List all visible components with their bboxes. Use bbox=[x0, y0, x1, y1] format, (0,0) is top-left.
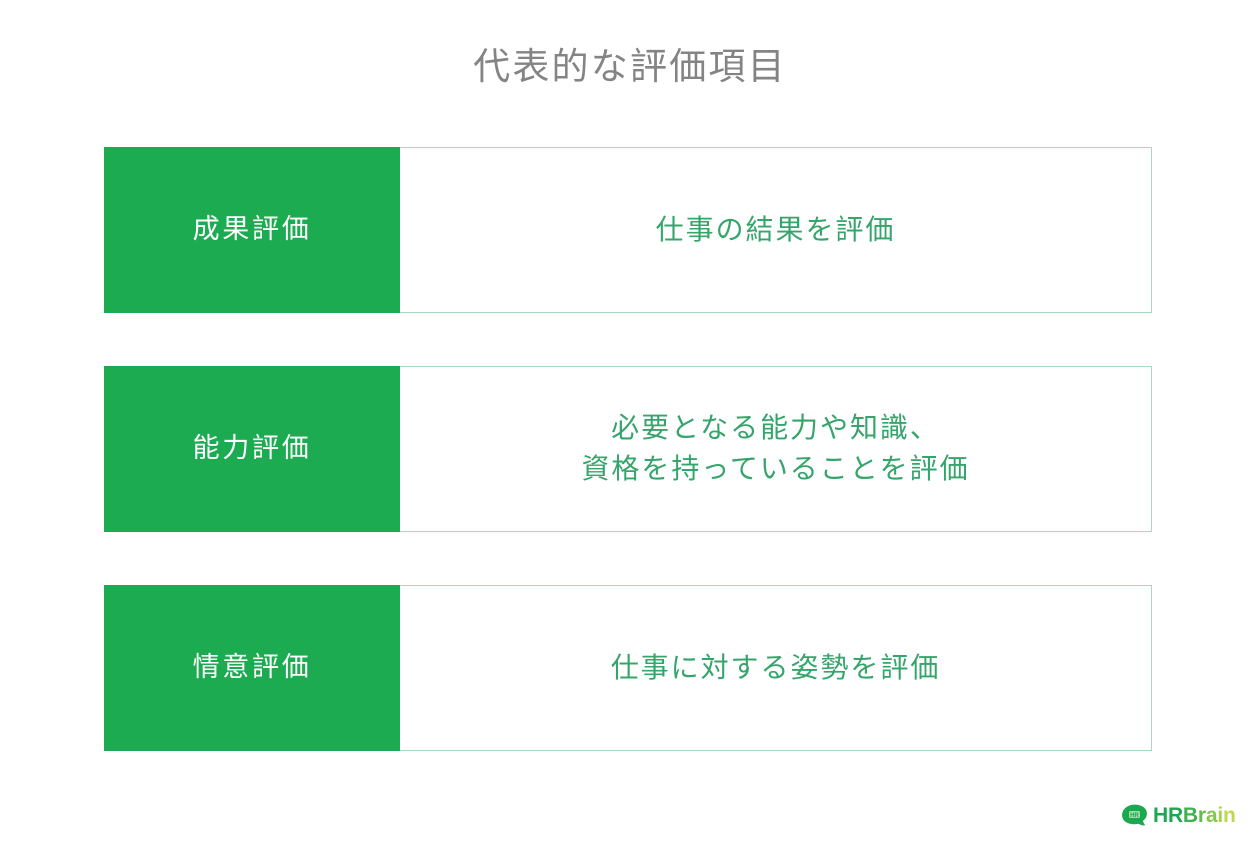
row-label-cell-2: 能力評価 bbox=[104, 366, 400, 532]
row-description-cell-1: 仕事の結果を評価 bbox=[400, 148, 1151, 312]
hrbrain-logo: HR HRBrain bbox=[1121, 801, 1236, 829]
row-description-cell-2: 必要となる能力や知識、 資格を持っていることを評価 bbox=[400, 367, 1151, 531]
row-label-text: 能力評価 bbox=[193, 431, 312, 466]
evaluation-items-list: 成果評価 仕事の結果を評価 能力評価 必要となる能力や知識、 資格を持っているこ… bbox=[104, 147, 1152, 751]
brain-blob-icon: HR bbox=[1121, 804, 1148, 827]
svg-text:HR: HR bbox=[1130, 812, 1139, 818]
logo-text-a: a bbox=[1206, 804, 1217, 827]
logo-text-b: B bbox=[1183, 804, 1198, 827]
list-item: 情意評価 仕事に対する姿勢を評価 bbox=[104, 585, 1152, 751]
row-description-text: 仕事に対する姿勢を評価 bbox=[611, 648, 941, 689]
list-item: 成果評価 仕事の結果を評価 bbox=[104, 147, 1152, 313]
list-item: 能力評価 必要となる能力や知識、 資格を持っていることを評価 bbox=[104, 366, 1152, 532]
row-label-text: 成果評価 bbox=[193, 212, 312, 247]
row-description-cell-3: 仕事に対する姿勢を評価 bbox=[400, 586, 1151, 750]
row-description-text: 必要となる能力や知識、 資格を持っていることを評価 bbox=[581, 408, 969, 489]
row-label-cell-3: 情意評価 bbox=[104, 585, 400, 751]
page-title: 代表的な評価項目 bbox=[0, 44, 1260, 90]
row-label-text: 情意評価 bbox=[193, 650, 312, 685]
logo-wordmark: HRBrain bbox=[1153, 805, 1236, 826]
row-label-cell-1: 成果評価 bbox=[104, 147, 400, 313]
logo-text-r: r bbox=[1198, 804, 1206, 827]
row-description-text: 仕事の結果を評価 bbox=[656, 210, 896, 251]
logo-text-hr: HR bbox=[1153, 804, 1183, 827]
slide-canvas: 代表的な評価項目 成果評価 仕事の結果を評価 能力評価 必要となる能力や知識、 … bbox=[0, 0, 1260, 842]
logo-text-n: n bbox=[1223, 804, 1236, 827]
